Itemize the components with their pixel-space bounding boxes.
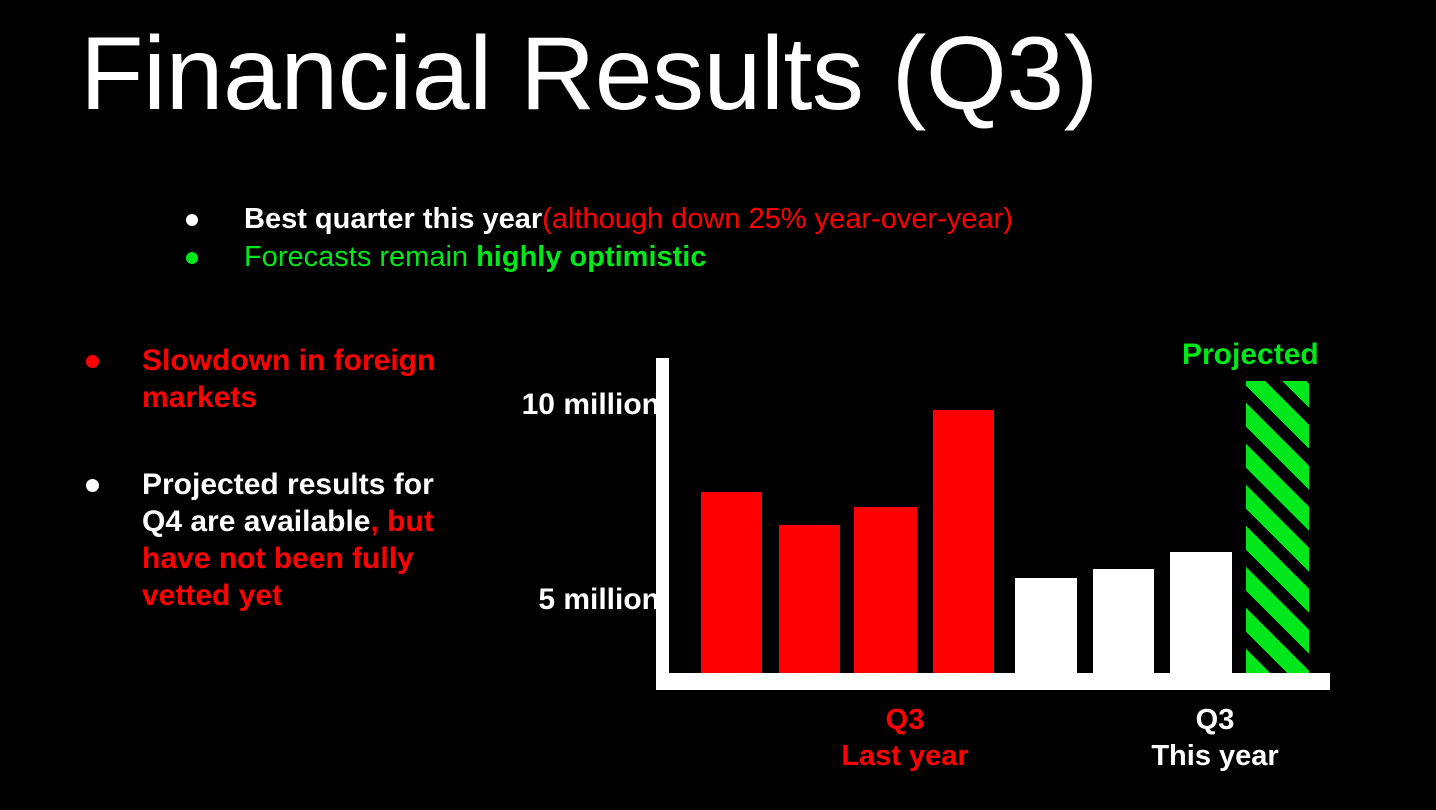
bullet-text-secondary: (although down 25% year-over-year): [542, 203, 1013, 235]
chart-x-axis: [656, 673, 1330, 690]
y-axis-tick-label: 10 million: [440, 388, 660, 422]
bullet-text-comma: ,: [371, 505, 379, 538]
bar-red-4: [933, 410, 994, 673]
bar-red-1: [701, 492, 762, 673]
bar-green-projected: [1246, 381, 1309, 673]
page-title: Financial Results (Q3): [80, 22, 1098, 126]
bar-white-1: [1015, 578, 1077, 673]
bar-white-3: [1170, 552, 1232, 673]
top-bullet-list: Best quarter this year(although down 25%…: [182, 200, 1362, 276]
y-axis-tick-label: 5 million: [440, 583, 660, 617]
list-item: Best quarter this year(although down 25%…: [182, 200, 1362, 238]
bar-chart: 10 million 5 million Projected Q3 Last y…: [470, 330, 1350, 800]
x-axis-label-line2: This year: [1110, 738, 1320, 774]
bullet-text-primary: Forecasts remain: [244, 241, 476, 273]
bar-red-2: [779, 525, 840, 673]
bullet-text-secondary: highly optimistic: [476, 241, 706, 273]
left-bullet-list: Slowdown in foreign markets Projected re…: [70, 342, 470, 614]
x-axis-label-line1: Q3: [800, 702, 1010, 738]
bullet-dot-icon: [186, 214, 198, 226]
bar-white-2: [1093, 569, 1154, 673]
bullet-text-primary: Slowdown in foreign markets: [142, 344, 435, 414]
list-item: Projected results for Q4 are available, …: [70, 466, 470, 614]
slide-canvas: Financial Results (Q3) Best quarter this…: [0, 0, 1436, 810]
list-item: Slowdown in foreign markets: [70, 342, 470, 416]
bullet-dot-icon: [86, 479, 99, 492]
x-axis-label-line1: Q3: [1110, 702, 1320, 738]
bullet-dot-icon: [86, 355, 99, 368]
list-item: Forecasts remain highly optimistic: [182, 238, 1362, 276]
bullet-text-primary: Best quarter this year: [244, 203, 542, 235]
bar-red-3: [854, 507, 917, 673]
bullet-dot-icon: [186, 252, 198, 264]
x-axis-label-line2: Last year: [800, 738, 1010, 774]
x-axis-group-label-this-year: Q3 This year: [1110, 702, 1320, 774]
projected-annotation-label: Projected: [1182, 338, 1319, 372]
x-axis-group-label-last-year: Q3 Last year: [800, 702, 1010, 774]
